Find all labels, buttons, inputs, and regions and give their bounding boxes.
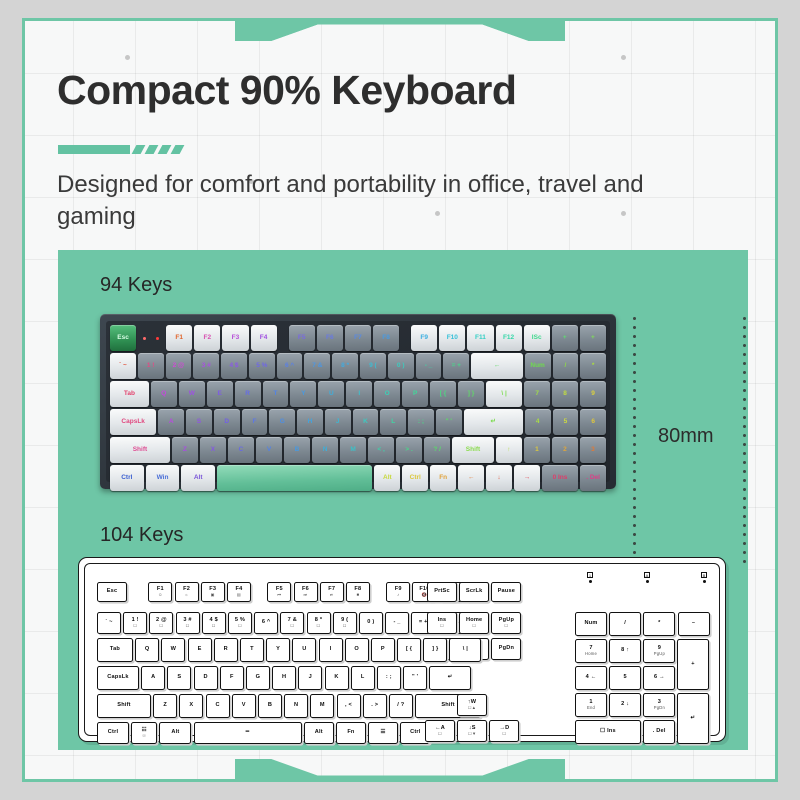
- key-f5: F5: [289, 325, 315, 351]
- key-9: 9 (☐: [333, 612, 357, 634]
- key-ctrl-left: Ctrl: [110, 465, 144, 491]
- key-f1: F1☺: [148, 582, 172, 602]
- key-g: G: [269, 409, 295, 435]
- key-bracket-right: ] }: [423, 638, 447, 662]
- key-np-enter: ↵: [677, 693, 709, 744]
- key-equal: = +: [443, 353, 469, 379]
- indicator-leds: [138, 325, 164, 351]
- key-q: Q: [135, 638, 159, 662]
- key-plus-a: +: [552, 325, 578, 351]
- key-4: 4 $: [221, 353, 247, 379]
- key-np4: 4 ←: [575, 666, 607, 690]
- poster-frame: Compact 90% Keyboard Designed for comfor…: [22, 18, 778, 782]
- key-i: I: [346, 381, 372, 407]
- key-slash: / ?: [389, 694, 413, 718]
- key-f11: F11: [467, 325, 493, 351]
- key-r: R: [214, 638, 238, 662]
- key-e: E: [188, 638, 212, 662]
- key-f10: F10: [439, 325, 465, 351]
- key-backslash: \ |: [486, 381, 522, 407]
- key-np-decimal: . Del: [580, 465, 606, 491]
- key-np-minus: –: [678, 612, 710, 636]
- key-np1: 1End: [575, 693, 607, 717]
- keyboard-row: Ctrl Win Alt Alt Ctrl Fn ← ↓ → 0 Ins . D…: [110, 465, 606, 491]
- key-k: K: [353, 409, 379, 435]
- key-insert: Ins☐: [427, 612, 457, 634]
- key-asterisk: *: [580, 353, 606, 379]
- key-enter: ↵: [464, 409, 523, 435]
- key-np1: 1: [524, 437, 550, 463]
- key-w: W: [161, 638, 185, 662]
- key-np7: 7Home: [575, 639, 607, 663]
- key-o: O: [345, 638, 369, 662]
- key-u: U: [318, 381, 344, 407]
- key-f2: F2☼: [175, 582, 199, 602]
- key-arrow-up: ↑W☐▲: [457, 694, 487, 716]
- key-semicolon: : ;: [408, 409, 434, 435]
- key-f: F: [242, 409, 268, 435]
- accent-slash: [145, 145, 159, 154]
- key-arrow-up: ↑: [496, 437, 522, 463]
- key-s: S: [167, 666, 191, 690]
- key-ctrl-right: Ctrl: [402, 465, 428, 491]
- key-i: I: [319, 638, 343, 662]
- key-fn: Fn: [336, 722, 366, 744]
- measurement-label: 80mm: [658, 425, 714, 448]
- key-arrow-right: →D☐: [489, 720, 519, 742]
- key-shift-left: Shift: [110, 437, 170, 463]
- key-h: H: [272, 666, 296, 690]
- key-f9: F9♪: [386, 582, 410, 602]
- key-8: 8 *: [332, 353, 358, 379]
- compact-keyboard-image: Esc F1 F2 F3 F4 F5 F6 F7 F8 F9: [100, 314, 616, 489]
- keyboard-row: Shift Z X C V B N M < , > . ? / Shift ↑ …: [110, 437, 606, 463]
- key-space: ━: [194, 722, 302, 744]
- key-c: C: [228, 437, 254, 463]
- key-minus: - _: [385, 612, 409, 634]
- key-3: 3 #: [193, 353, 219, 379]
- key-pagedown: PgDn: [491, 638, 521, 660]
- key-backslash: \ |: [449, 638, 481, 662]
- key-a: A: [158, 409, 184, 435]
- arrow-cluster-up: ↑W☐▲: [457, 694, 487, 716]
- key-np-multiply: *: [643, 612, 675, 636]
- measure-line-right: [743, 314, 746, 568]
- key-c: C: [206, 694, 230, 718]
- key-ctrl-left: Ctrl: [97, 722, 129, 744]
- key-f3: F3: [222, 325, 248, 351]
- key-np5: 5: [609, 666, 641, 690]
- key-capslock: CapsLk: [97, 666, 139, 690]
- key-z: Z: [172, 437, 198, 463]
- keyboard-row: CapsLk A S D F G H J K L : ; " ' ↵ 4 5 6: [110, 409, 606, 435]
- numpad-row-5: ☐ Ins . Del: [575, 720, 675, 744]
- key-z: Z: [153, 694, 177, 718]
- key-alt-left: Alt: [181, 465, 215, 491]
- grid-dot: [125, 55, 130, 60]
- key-win: Win: [146, 465, 180, 491]
- accent-slash: [132, 145, 146, 154]
- key-f5: F5⏮: [267, 582, 291, 602]
- key-h: H: [297, 409, 323, 435]
- key-8: 8 *☐: [307, 612, 331, 634]
- key-comma: < ,: [368, 437, 394, 463]
- key-v: V: [232, 694, 256, 718]
- key-f4: F4▤: [227, 582, 251, 602]
- key-home: Home☐: [459, 612, 489, 634]
- key-t: T: [240, 638, 264, 662]
- keyboard-row-bottom: Ctrl ☷☉ Alt ━ Alt Fn ☰ Ctrl: [97, 722, 430, 744]
- key-j: J: [325, 409, 351, 435]
- key-q: Q: [151, 381, 177, 407]
- key-x: X: [179, 694, 203, 718]
- key-a: A: [141, 666, 165, 690]
- compact-keyboard-label: 94 Keys: [100, 274, 172, 297]
- key-6: 6 ^: [277, 353, 303, 379]
- key-quote: " ': [403, 666, 427, 690]
- key-f7: F7⏯: [320, 582, 344, 602]
- key-np8: 8: [552, 381, 578, 407]
- key-f2: F2: [194, 325, 220, 351]
- key-arrow-left: ←: [458, 465, 484, 491]
- numpad-row-4: 1End 2 ↓ 3PgDn ↵: [575, 693, 675, 717]
- key-arrow-left: ←A☐: [425, 720, 455, 742]
- key-np5: 5: [553, 409, 579, 435]
- key-n: N: [312, 437, 338, 463]
- key-1: 1 !☐: [123, 612, 147, 634]
- key-comma: , <: [337, 694, 361, 718]
- key-bracket-right: ] }: [458, 381, 484, 407]
- key-capslock: CapsLk: [110, 409, 156, 435]
- keyboard-row-tab: Tab Q W E R T Y U I O P [ { ] } \ |: [97, 638, 481, 662]
- top-notch-decoration: [235, 18, 565, 41]
- key-5: 5 %: [249, 353, 275, 379]
- key-7: 7 &: [304, 353, 330, 379]
- key-backtick: ` ~: [97, 612, 121, 634]
- key-s: S: [186, 409, 212, 435]
- key-shift-right: Shift: [452, 437, 494, 463]
- key-minus: - _: [416, 353, 442, 379]
- key-numlock: Num: [575, 612, 607, 636]
- key-k: K: [325, 666, 349, 690]
- key-enter: ↵: [429, 666, 471, 690]
- key-f6: F6: [317, 325, 343, 351]
- key-num: Num: [525, 353, 551, 379]
- keyboard-row-nav-top: PrtSc ScrLk Pause: [427, 582, 521, 602]
- key-p: P: [371, 638, 395, 662]
- key-np0: ☐ Ins: [575, 720, 641, 744]
- key-space: [217, 465, 372, 491]
- key-np6: 6 →: [643, 666, 675, 690]
- key-period: . >: [363, 694, 387, 718]
- keyboard-row-shift: Shift Z X C V B N M , < . > / ? Shift: [97, 694, 481, 718]
- key-alt-right: Alt: [374, 465, 400, 491]
- key-np9: 9PgUp: [643, 639, 675, 663]
- key-win: ☷☉: [131, 722, 157, 744]
- key-m: M: [340, 437, 366, 463]
- key-y: Y: [266, 638, 290, 662]
- accent-slash: [158, 145, 172, 154]
- keyboard-row: ` ~ 1 ! 2 @ 3 # 4 $ 5 % 6 ^ 7 & 8 * 9 ( …: [110, 353, 606, 379]
- key-f7: F7: [345, 325, 371, 351]
- key-np9: 9: [580, 381, 606, 407]
- key-p: P: [402, 381, 428, 407]
- key-slash: /: [553, 353, 579, 379]
- key-menu: ☰: [368, 722, 398, 744]
- key-np2: 2 ↓: [609, 693, 641, 717]
- key-4: 4 $☐: [202, 612, 226, 634]
- accent-divider: [58, 145, 182, 154]
- key-7: 7 &☐: [280, 612, 304, 634]
- keyboard-row-numbers: ` ~ 1 !☐ 2 @☐ 3 #☐ 4 $☐ 5 %☐ 6 ^ 7 &☐ 8 …: [97, 612, 481, 634]
- key-esc: Esc: [97, 582, 127, 602]
- key-np-decimal: . Del: [643, 720, 675, 744]
- key-f6: F6⏭: [294, 582, 318, 602]
- key-w: W: [179, 381, 205, 407]
- key-printscreen: PrtSc: [427, 582, 457, 602]
- numpad-row-2: 7Home 8 ↑ 9PgUp +: [575, 639, 675, 663]
- key-y: Y: [290, 381, 316, 407]
- key-v: V: [256, 437, 282, 463]
- key-np-divide: /: [609, 612, 641, 636]
- key-tab: Tab: [110, 381, 149, 407]
- keyboard-row-caps: CapsLk A S D F G H J K L : ; " ' ↵: [97, 666, 471, 690]
- key-np3: 3PgDn: [643, 693, 675, 717]
- numpad-row-3: 4 ← 5 6 →: [575, 666, 675, 690]
- arrow-cluster-bottom: ←A☐ ↓S☐▼ →D☐: [425, 720, 519, 742]
- key-b: B: [258, 694, 282, 718]
- key-np2: 2: [552, 437, 578, 463]
- key-d: D: [214, 409, 240, 435]
- key-arrow-down: ↓: [486, 465, 512, 491]
- page-title: Compact 90% Keyboard: [57, 67, 516, 114]
- accent-bar: [58, 145, 130, 154]
- indicator-num-lock: 1: [587, 572, 593, 583]
- key-r: R: [235, 381, 261, 407]
- key-tab: Tab: [97, 638, 133, 662]
- key-pause: Pause: [491, 582, 521, 602]
- key-u: U: [292, 638, 316, 662]
- key-f12: F12: [496, 325, 522, 351]
- key-f1: F1: [166, 325, 192, 351]
- key-plus-b: +: [580, 325, 606, 351]
- key-np3: 3: [580, 437, 606, 463]
- key-f4: F4: [251, 325, 277, 351]
- key-backspace: ←: [471, 353, 523, 379]
- key-np0: 0 Ins: [542, 465, 578, 491]
- bottom-notch-decoration: [235, 759, 565, 782]
- key-x: X: [200, 437, 226, 463]
- key-2: 2 @: [166, 353, 192, 379]
- key-f9: F9: [411, 325, 437, 351]
- key-5: 5 %☐: [228, 612, 252, 634]
- key-slash-q: ? /: [424, 437, 450, 463]
- key-l: L: [351, 666, 375, 690]
- key-t: T: [263, 381, 289, 407]
- key-l: L: [380, 409, 406, 435]
- key-arrow-down: ↓S☐▼: [457, 720, 487, 742]
- key-np-plus: +: [677, 639, 709, 690]
- key-f3: F3▣: [201, 582, 225, 602]
- key-0: 0 ): [359, 612, 383, 634]
- key-9: 9 (: [360, 353, 386, 379]
- key-g: G: [246, 666, 270, 690]
- accent-slash: [171, 145, 185, 154]
- key-bracket-left: [ {: [397, 638, 421, 662]
- indicator-scroll-lock: B: [701, 572, 707, 583]
- key-np6: 6: [580, 409, 606, 435]
- key-e: E: [207, 381, 233, 407]
- numpad-row-1: Num / * –: [575, 612, 710, 636]
- key-b: B: [284, 437, 310, 463]
- keyboard-row: Esc F1 F2 F3 F4 F5 F6 F7 F8 F9: [110, 325, 606, 351]
- key-f8: F8: [373, 325, 399, 351]
- key-2: 2 @☐: [149, 612, 173, 634]
- key-0: 0 ): [388, 353, 414, 379]
- key-alt-right: Alt: [304, 722, 334, 744]
- key-arrow-right: →: [514, 465, 540, 491]
- key-j: J: [298, 666, 322, 690]
- key-esc: Esc: [110, 325, 136, 351]
- key-period: > .: [396, 437, 422, 463]
- key-d: D: [194, 666, 218, 690]
- grid-dot: [621, 55, 626, 60]
- page-subtitle: Designed for comfort and portability in …: [57, 169, 717, 233]
- key-quote: " ': [436, 409, 462, 435]
- fullsize-keyboard-label: 104 Keys: [100, 524, 183, 547]
- key-n: N: [284, 694, 308, 718]
- key-m: M: [310, 694, 334, 718]
- key-np7: 7: [524, 381, 550, 407]
- product-panel: 94 Keys Esc F1 F2 F3 F4 F5 F6 F7: [58, 250, 748, 750]
- key-scrolllock: ScrLk: [459, 582, 489, 602]
- keyboard-row: Tab Q W E R T Y U I O P [ { ] } \ | 7 8: [110, 381, 606, 407]
- key-fn: Fn: [430, 465, 456, 491]
- key-np4: 4: [525, 409, 551, 435]
- key-semicolon: : ;: [377, 666, 401, 690]
- key-bracket-left: [ {: [430, 381, 456, 407]
- key-backtick: ` ~: [110, 353, 136, 379]
- fullsize-keyboard-image: 1 A B Esc F1☺ F2☼ F3▣ F4▤ F5⏮ F6⏭ F7⏯ F8…: [78, 557, 726, 742]
- keyboard-row-nav-ins: Ins☐ Home☐ PgUp☐: [427, 612, 521, 634]
- key-pageup: PgUp☐: [491, 612, 521, 634]
- key-3: 3 #☐: [176, 612, 200, 634]
- key-isc: ISc: [524, 325, 550, 351]
- measure-line-left: [633, 314, 636, 568]
- key-shift-left: Shift: [97, 694, 151, 718]
- key-f: F: [220, 666, 244, 690]
- key-1: 1 !: [138, 353, 164, 379]
- key-np8: 8 ↑: [609, 639, 641, 663]
- key-f8: F8■: [346, 582, 370, 602]
- key-6: 6 ^: [254, 612, 278, 634]
- key-alt-left: Alt: [159, 722, 191, 744]
- indicator-caps-lock: A: [644, 572, 650, 583]
- key-o: O: [374, 381, 400, 407]
